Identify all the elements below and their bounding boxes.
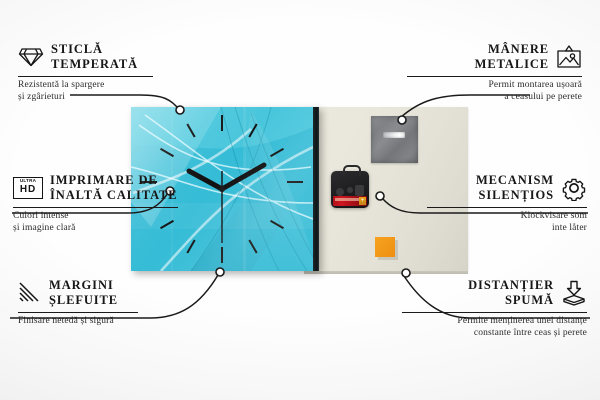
feature-foam-spacer: DISTANȚIER SPUMĂ Permite menținerea unei… — [397, 278, 587, 339]
feature-title-row: MARGINI ȘLEFUITE — [18, 278, 178, 308]
framed-picture-icon — [556, 45, 582, 69]
feature-title-row: ultra HD IMPRIMARE DE ÎNALTĂ CALITATE — [13, 173, 193, 203]
hour-hand — [189, 171, 222, 189]
foam-spacer-pad — [375, 237, 395, 257]
feature-underline — [18, 312, 138, 313]
battery-plus-terminal: + — [359, 197, 366, 205]
feature-subtitle: Permit montarea ușoară a ceasului pe per… — [402, 80, 582, 103]
feature-title-row: MECANISM SILENȚIOS — [412, 173, 587, 203]
gear-icon — [561, 175, 587, 201]
clock-center-cap — [219, 186, 225, 192]
movement-knob-1 — [336, 188, 344, 196]
movement-knob-2 — [347, 187, 353, 193]
hanger-slot — [383, 132, 405, 138]
feature-title: MÂNERE METALICE — [475, 42, 549, 72]
battery: + — [333, 196, 367, 206]
feature-polished-edges: MARGINI ȘLEFUITE Finisare netedă și sigu… — [18, 278, 178, 328]
battery-stripe — [335, 198, 360, 201]
feature-title: STICLĂ TEMPERATĂ — [51, 42, 138, 72]
feature-subtitle: Permite menținerea unei distanțe constan… — [397, 316, 587, 339]
feature-underline — [18, 76, 153, 77]
feature-underline — [407, 76, 582, 77]
beveled-edge-icon — [18, 281, 42, 305]
feature-hd-print: ultra HD IMPRIMARE DE ÎNALTĂ CALITATE Cu… — [13, 173, 193, 234]
hanger-loop — [343, 165, 361, 176]
feature-tempered-glass: STICLĂ TEMPERATĂ Rezistentă la spargere … — [18, 42, 178, 103]
feature-title: DISTANȚIER SPUMĂ — [468, 278, 554, 308]
movement-knob-3 — [355, 185, 364, 196]
feature-underline — [13, 207, 178, 208]
infographic-canvas: + — [0, 0, 600, 400]
feature-silent-mechanism: MECANISM SILENȚIOS Klockvisare som inte … — [412, 173, 587, 234]
feature-title: MECANISM SILENȚIOS — [476, 173, 554, 203]
feature-title: IMPRIMARE DE ÎNALTĂ CALITATE — [50, 173, 178, 203]
feature-subtitle: Finisare netedă și sigură — [18, 316, 178, 328]
feature-title: MARGINI ȘLEFUITE — [49, 278, 118, 308]
feature-underline — [427, 207, 587, 208]
feature-subtitle: Rezistentă la spargere și zgârieturi — [18, 80, 178, 103]
ultra-hd-icon: ultra HD — [13, 177, 43, 199]
press-pad-icon — [561, 280, 587, 306]
feature-metal-handles: MÂNERE METALICE Permit montarea ușoară a… — [402, 42, 582, 103]
clock-side-edge — [313, 107, 319, 271]
clock-movement-box: + — [331, 171, 369, 208]
feature-title-row: DISTANȚIER SPUMĂ — [397, 278, 587, 308]
feature-title-row: MÂNERE METALICE — [402, 42, 582, 72]
feature-title-row: STICLĂ TEMPERATĂ — [18, 42, 178, 72]
metal-hanger-plate — [371, 116, 418, 163]
ultra-hd-icon-main-label: HD — [14, 184, 42, 195]
feature-subtitle: Klockvisare som inte låter — [412, 211, 587, 234]
minute-hand — [222, 165, 264, 189]
feature-subtitle: Culori intense și imagine clară — [13, 211, 193, 234]
feature-underline — [402, 312, 587, 313]
diamond-icon — [18, 46, 44, 68]
